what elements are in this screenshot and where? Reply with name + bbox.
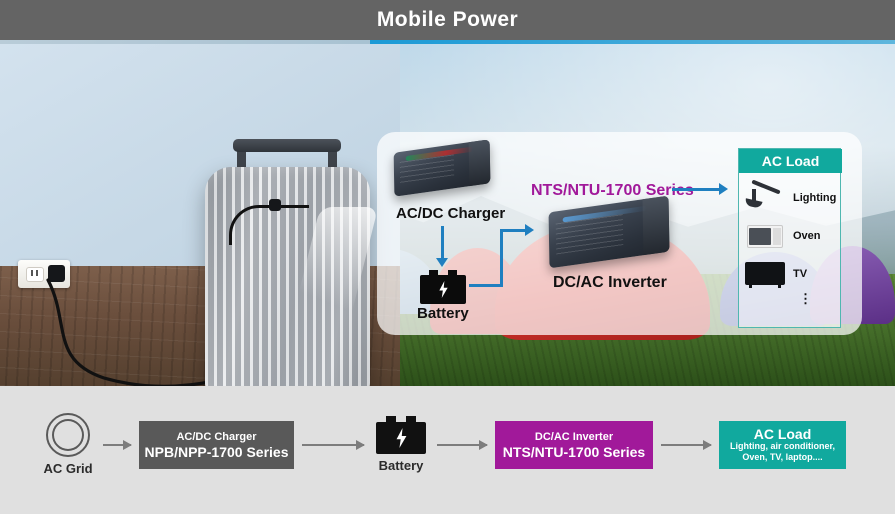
ac-load-panel-title: AC Load bbox=[762, 153, 820, 169]
flow-arrow-2 bbox=[302, 444, 364, 446]
arrow-inverter-to-acload-head bbox=[719, 183, 728, 195]
ac-load-item-lighting-label: Lighting bbox=[793, 192, 836, 204]
flow-diagram: AC Grid AC/DC Charger NPB/NPP-1700 Serie… bbox=[0, 386, 895, 514]
arrow-charger-to-battery bbox=[441, 226, 444, 260]
arrow-battery-to-inverter-vertical bbox=[500, 229, 503, 287]
flow-box-ac-dc-charger-line1: AC/DC Charger bbox=[176, 430, 256, 444]
lamp-icon bbox=[743, 181, 789, 215]
inverter-series-label: NTS/NTU-1700 Series bbox=[531, 182, 694, 200]
mobile-power-infographic: Mobile Power TOWARD bbox=[0, 0, 895, 514]
flow-box-ac-load: AC Load Lighting, air conditioner, Oven,… bbox=[719, 421, 846, 469]
ac-load-item-tv: TV bbox=[743, 255, 842, 293]
flow-arrow-4 bbox=[661, 444, 711, 446]
page-title: Mobile Power bbox=[377, 8, 518, 32]
suitcase-body bbox=[205, 167, 370, 386]
ac-load-panel: AC Load Lighting Oven TV ⋮ bbox=[738, 148, 841, 328]
flow-node-battery: Battery bbox=[373, 416, 429, 473]
suitcase-handle-grip bbox=[233, 139, 341, 152]
dc-ac-inverter-product-image bbox=[549, 204, 669, 260]
power-plug-icon bbox=[48, 265, 65, 282]
arrow-inverter-to-acload bbox=[672, 188, 722, 191]
silver-suitcase bbox=[205, 139, 370, 386]
arrow-battery-to-inverter-top bbox=[500, 229, 527, 232]
ac-load-more-indicator: ⋮ bbox=[799, 295, 812, 302]
battery-icon bbox=[376, 416, 426, 454]
arrow-battery-to-inverter-head bbox=[525, 224, 534, 236]
flow-box-dc-ac-inverter-line2: NTS/NTU-1700 Series bbox=[503, 444, 645, 461]
ac-dc-charger-product-image bbox=[394, 146, 490, 190]
ac-load-item-oven: Oven bbox=[743, 217, 842, 255]
television-icon bbox=[743, 257, 789, 291]
suitcase-plug-icon bbox=[269, 199, 281, 211]
microwave-oven-icon bbox=[743, 219, 789, 253]
flow-arrow-3 bbox=[437, 444, 487, 446]
arrow-battery-to-inverter-horizontal bbox=[469, 284, 503, 287]
inverter-label: DC/AC Inverter bbox=[553, 274, 667, 292]
arrow-charger-to-battery-head bbox=[436, 258, 448, 267]
flow-box-dc-ac-inverter: DC/AC Inverter NTS/NTU-1700 Series bbox=[495, 421, 653, 469]
flow-box-dc-ac-inverter-line1: DC/AC Inverter bbox=[535, 430, 613, 444]
battery-label: Battery bbox=[417, 305, 469, 322]
header-bar: Mobile Power bbox=[0, 0, 895, 40]
flow-node-ac-grid-label: AC Grid bbox=[40, 461, 96, 476]
ac-load-panel-header: AC Load bbox=[739, 149, 842, 173]
flow-node-ac-grid: AC Grid bbox=[40, 413, 96, 476]
charger-label: AC/DC Charger bbox=[396, 205, 505, 222]
flow-node-battery-label: Battery bbox=[373, 458, 429, 473]
flow-arrow-1 bbox=[103, 444, 131, 446]
ac-load-item-lighting: Lighting bbox=[743, 179, 842, 217]
hero-scene: TOWARD AC/DC Charger bbox=[0, 44, 895, 386]
ac-load-item-tv-label: TV bbox=[793, 268, 807, 280]
flow-box-ac-load-line2: Lighting, air conditioner, Oven, TV, lap… bbox=[719, 441, 846, 463]
suitcase-cable bbox=[229, 205, 309, 245]
flow-box-ac-dc-charger-line2: NPB/NPP-1700 Series bbox=[145, 444, 289, 461]
battery-icon bbox=[420, 270, 466, 304]
ac-load-item-oven-label: Oven bbox=[793, 230, 821, 242]
outlet-socket-icon bbox=[26, 267, 44, 282]
flow-box-ac-dc-charger: AC/DC Charger NPB/NPP-1700 Series bbox=[139, 421, 294, 469]
ac-sine-circle-icon bbox=[46, 413, 90, 457]
flow-box-ac-load-line1: AC Load bbox=[754, 427, 812, 441]
wall-outlet bbox=[18, 260, 70, 288]
